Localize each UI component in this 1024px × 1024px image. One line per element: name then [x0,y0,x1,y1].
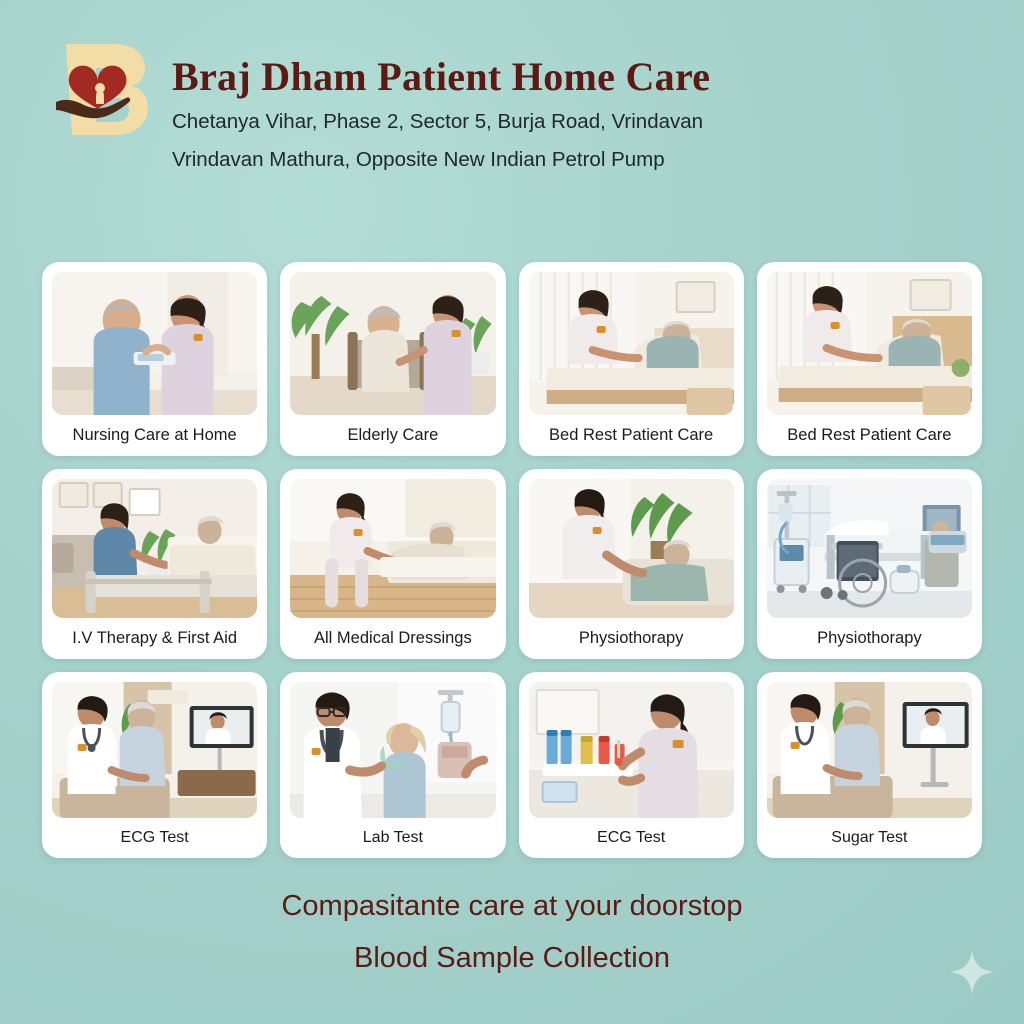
service-card[interactable]: All Medical Dressings [280,469,505,659]
brand-logo [52,38,156,142]
therapist-treating-reclining-man-photo [529,479,734,618]
footer-service-note: Blood Sample Collection [0,940,1024,976]
service-card[interactable]: Sugar Test [757,672,982,858]
service-card[interactable]: I.V Therapy & First Aid [42,469,267,659]
service-card-label: Lab Test [290,818,495,858]
brand-text-block: Braj Dham Patient Home Care Chetanya Vih… [172,34,710,174]
service-card[interactable]: ECG Test [519,672,744,858]
nurse-iv-therapy-hospital-bed-photo [52,479,257,618]
service-card-label: Sugar Test [767,818,972,858]
service-grid: Nursing Care at Home [42,262,982,858]
service-card[interactable]: Physiothorapy [519,469,744,659]
service-card[interactable]: Nursing Care at Home [42,262,267,456]
service-card[interactable]: ECG Test [42,672,267,858]
page-header: Braj Dham Patient Home Care Chetanya Vih… [0,0,1024,174]
doctor-with-senior-man-telemedicine-screen-photo [52,682,257,818]
service-card-label: Physiothorapy [529,618,734,659]
service-card[interactable]: Elderly Care [280,262,505,456]
service-card-label: Bed Rest Patient Care [767,415,972,456]
service-card-label: ECG Test [52,818,257,858]
four-point-sparkle-icon [948,948,996,996]
nurse-handling-blood-sample-vials-photo [529,682,734,818]
page-footer: Compasitante care at your doorstop Blood… [0,888,1024,977]
heart-in-hand-b-logo-icon [52,38,156,142]
nurse-tending-bedridden-man-photo [529,272,734,415]
service-card-label: Nursing Care at Home [52,415,257,456]
service-card-label: I.V Therapy & First Aid [52,618,257,659]
service-card-label: Bed Rest Patient Care [529,415,734,456]
nurse-tending-bedridden-man-photo [767,272,972,415]
service-card[interactable]: Lab Test [280,672,505,858]
service-card-label: All Medical Dressings [290,618,495,659]
page-title: Braj Dham Patient Home Care [172,56,710,98]
doctor-senior-man-video-call-screen-photo [767,682,972,818]
nurse-assisting-seated-elderly-woman-photo [290,272,495,415]
address-line-1: Chetanya Vihar, Phase 2, Sector 5, Burja… [172,107,710,136]
service-card-label: Physiothorapy [767,618,972,659]
service-card[interactable]: Bed Rest Patient Care [519,262,744,456]
nurse-medical-dressing-bedside-photo [290,479,495,618]
service-card-label: Elderly Care [290,415,495,456]
service-card[interactable]: Physiothorapy [757,469,982,659]
footer-tagline: Compasitante care at your doorstop [0,888,1024,924]
service-card-label: ECG Test [529,818,734,858]
nurse-handing-item-to-senior-woman-photo [52,272,257,415]
medical-equipment-wheelchair-bed-photo [767,479,972,618]
address-line-2: Vrindavan Mathura, Opposite New Indian P… [172,145,710,174]
service-card[interactable]: Bed Rest Patient Care [757,262,982,456]
doctor-oxygen-mask-patient-iv-drip-photo [290,682,495,818]
